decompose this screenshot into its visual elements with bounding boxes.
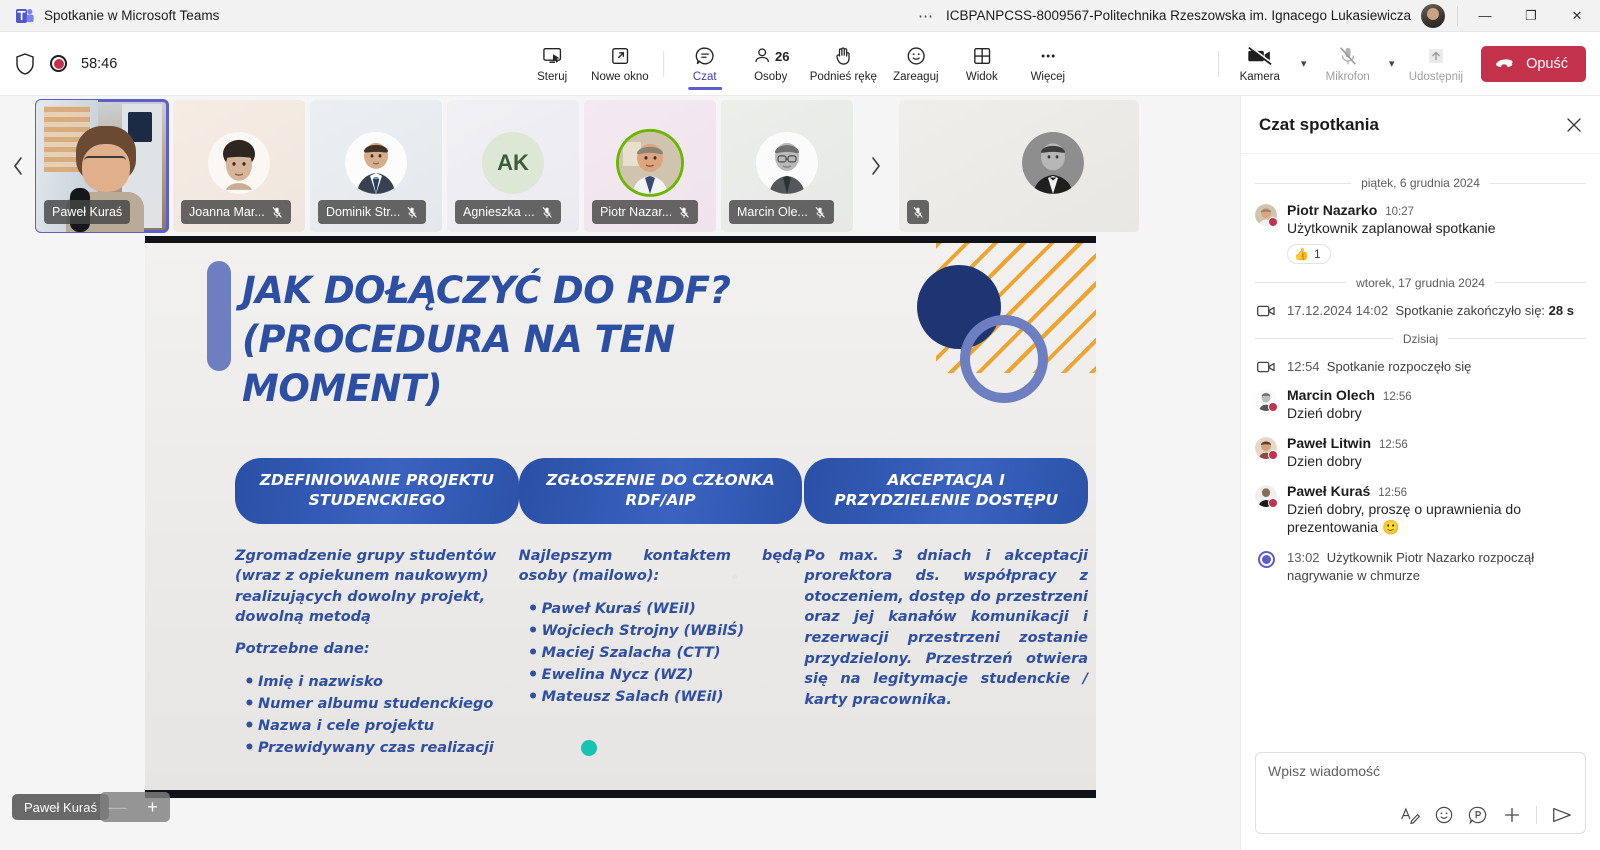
- window-titlebar: Spotkanie w Microsoft Teams ⋯ ICBPANPCSS…: [0, 0, 1600, 32]
- avatar: [1255, 204, 1277, 226]
- close-button[interactable]: ✕: [1554, 0, 1600, 32]
- presenter-name-badge: Paweł Kuraś: [12, 794, 109, 820]
- chat-author: Paweł Litwin: [1287, 435, 1371, 451]
- column-paragraph: Zgromadzenie grupy studentów (wraz z opi…: [235, 546, 519, 628]
- chat-timestamp: 12:56: [1378, 487, 1407, 499]
- chat-message: Paweł Kuraś 12:56 Dzień dobry, proszę o …: [1255, 483, 1586, 537]
- microphone-button[interactable]: Mikrofon: [1315, 32, 1381, 96]
- filmstrip-prev-button[interactable]: [0, 96, 36, 236]
- tile-name-badge: Joanna Mar...: [181, 200, 291, 224]
- avatar: [756, 132, 818, 194]
- participant-tile-piotr[interactable]: Piotr Nazar...: [584, 100, 716, 232]
- format-text-icon[interactable]: [1400, 806, 1420, 824]
- column-bullets: Imię i nazwisko Numer albumu studenckieg…: [243, 671, 519, 759]
- mic-muted-icon: [678, 206, 690, 219]
- decorative-ring: [960, 315, 1048, 403]
- chat-timestamp: 12:56: [1383, 391, 1412, 403]
- column-paragraph: Najlepszym kontaktem będą osoby (mailowo…: [519, 546, 803, 587]
- zoom-in-button[interactable]: +: [135, 798, 170, 816]
- toolbar-item-steruj[interactable]: Steruj: [519, 32, 585, 96]
- tile-name-badge: Dominik Str...: [318, 200, 426, 224]
- column-bullets: Paweł Kuraś (WEiI) Wojciech Strojny (WBi…: [527, 598, 803, 708]
- meeting-timer: 58:46: [81, 56, 117, 72]
- toolbar-actions: Steruj Nowe okno Czat 26 Osoby: [519, 32, 1081, 96]
- column-heading: Zdefiniowanie projektu studenckiego: [235, 458, 519, 524]
- toolbar-label: Czat: [693, 71, 717, 83]
- composer-toolbar: [1268, 797, 1573, 825]
- new-window-icon: [609, 44, 631, 68]
- tile-name-badge: Piotr Nazar...: [592, 200, 698, 224]
- slide-column-2: Zgłoszenie do członka RDF/AIP Najlepszym…: [511, 458, 811, 759]
- tile-name: Marcin Ole...: [737, 205, 808, 219]
- toolbar-item-osoby[interactable]: 26 Osoby: [738, 32, 804, 96]
- titlebar-right: ⋯ ICBPANPCSS-8009567-Politechnika Rzeszo…: [906, 0, 1600, 32]
- tile-name-badge: Paweł Kuraś: [44, 200, 130, 224]
- chat-message-body: Piotr Nazarko 10:27 Użytkownik zaplanowa…: [1287, 202, 1586, 264]
- chat-header: Czat spotkania: [1241, 96, 1600, 154]
- zoom-controls[interactable]: — +: [100, 792, 170, 822]
- participant-tile-pawel-kuras[interactable]: Paweł Kuraś: [36, 100, 168, 232]
- bullet-item: Wojciech Strojny (WBilŚ): [527, 620, 803, 642]
- participant-count: 26: [775, 49, 789, 64]
- emoji-icon[interactable]: [1434, 805, 1454, 825]
- chat-system-value: 28 s: [1549, 303, 1574, 318]
- titlebar-divider: [1457, 6, 1458, 26]
- avatar: [208, 132, 270, 194]
- chat-system-message: 12:54 Spotkanie rozpoczęło się: [1255, 358, 1586, 376]
- avatar: [1022, 132, 1084, 194]
- bullet-item: Przewidywany czas realizacji: [243, 737, 519, 759]
- day-label: piątek, 6 grudnia 2024: [1361, 176, 1480, 190]
- send-icon[interactable]: [1551, 805, 1573, 825]
- chat-text: Dzien dobry: [1287, 452, 1586, 471]
- avatar-initials: AK: [482, 132, 544, 194]
- bullet-item: Mateusz Salach (WEiI): [527, 686, 803, 708]
- share-button[interactable]: Udostępnij: [1403, 32, 1469, 96]
- meeting-toolbar: 58:46 Steruj Nowe okno Czat: [0, 32, 1600, 96]
- toolbar-item-czat[interactable]: Czat: [672, 32, 738, 96]
- reaction-badge[interactable]: 👍 1: [1287, 244, 1331, 264]
- shared-content-stage: Jak dołączyć do RDF? (Procedura na ten m…: [0, 236, 1240, 850]
- toolbar-device-controls: Kamera ▾ Mikrofon ▾ Udostępnij Opuś: [1210, 32, 1600, 96]
- teams-logo-icon: [16, 7, 34, 25]
- slide-column-1: Zdefiniowanie projektu studenckiego Zgro…: [227, 458, 527, 759]
- toolbar-item-nowe-okno[interactable]: Nowe okno: [585, 32, 655, 96]
- presenter-name: Paweł Kuraś: [24, 800, 97, 815]
- close-icon[interactable]: [1566, 117, 1582, 133]
- teams-meeting-window: Spotkanie w Microsoft Teams ⋯ ICBPANPCSS…: [0, 0, 1600, 850]
- tile-name: Agnieszka ...: [463, 205, 535, 219]
- chat-timestamp: 17.12.2024 14:02: [1287, 303, 1388, 318]
- chat-message-head: Paweł Kuraś 12:56: [1287, 483, 1586, 499]
- mic-muted-icon: [541, 206, 553, 219]
- bullet-item: Imię i nazwisko: [243, 671, 519, 693]
- chat-system-label: Spotkanie zakończyło się:: [1395, 303, 1545, 318]
- chat-message-body: Paweł Kuraś 12:56 Dzień dobry, proszę o …: [1287, 483, 1586, 537]
- chat-author: Piotr Nazarko: [1287, 202, 1377, 218]
- chat-message: Piotr Nazarko 10:27 Użytkownik zaplanowa…: [1255, 202, 1586, 264]
- chat-message-head: Piotr Nazarko 10:27: [1287, 202, 1586, 218]
- chat-system-text: 17.12.2024 14:02 Spotkanie zakończyło si…: [1287, 302, 1574, 320]
- more-ellipsis-icon: [1037, 44, 1059, 68]
- avatar: [1255, 437, 1277, 459]
- camera-button[interactable]: Kamera: [1227, 32, 1293, 96]
- hangup-icon: [1495, 57, 1517, 71]
- bullet-item: Ewelina Nycz (WZ): [527, 664, 803, 686]
- microphone-chevron-down-icon[interactable]: ▾: [1381, 32, 1403, 96]
- bullet-item: Maciej Szalacha (CTT): [527, 642, 803, 664]
- tile-name-badge: Agnieszka ...: [455, 200, 561, 224]
- mic-muted-icon: [271, 206, 283, 219]
- chat-icon: [694, 44, 716, 68]
- chat-message-body: Marcin Olech 12:56 Dzień dobry: [1287, 387, 1586, 423]
- chat-text: Użytkownik zaplanował spotkanie: [1287, 219, 1586, 238]
- chat-message-list[interactable]: piątek, 6 grudnia 2024 Piotr Nazarko 10:…: [1241, 154, 1600, 742]
- mic-muted-icon: [912, 206, 924, 219]
- toolbar-item-zareaguj[interactable]: Zareaguj: [883, 32, 949, 96]
- avatar: [1255, 485, 1277, 507]
- toolbar-label: Zareaguj: [893, 71, 938, 83]
- toolbar-item-podnies-reke[interactable]: Podnieś rękę: [804, 32, 883, 96]
- share-up-arrow-icon: [1425, 44, 1447, 68]
- toolbar-divider-2: [1218, 51, 1219, 77]
- chat-timestamp: 10:27: [1385, 206, 1414, 218]
- toolbar-label: Osoby: [754, 71, 787, 83]
- minimize-button[interactable]: —: [1462, 0, 1508, 32]
- tile-name: Paweł Kuraś: [52, 205, 122, 219]
- reactions-icon: [905, 44, 927, 68]
- mic-muted-icon: [814, 206, 826, 219]
- zoom-out-button[interactable]: —: [100, 798, 135, 816]
- column-heading: Akceptacja i przydzielenie dostępu: [804, 458, 1088, 524]
- avatar[interactable]: [1421, 4, 1445, 28]
- chat-timestamp: 12:56: [1379, 439, 1408, 451]
- chat-composer: Wpisz wiadomość: [1241, 742, 1600, 850]
- toolbar-label: Więcej: [1031, 71, 1066, 83]
- toolbar-status-group: 58:46: [0, 52, 117, 76]
- control-screen-icon: [541, 44, 563, 68]
- toolbar-label: Podnieś rękę: [810, 71, 877, 83]
- recording-icon: [1255, 551, 1277, 568]
- microphone-label: Mikrofon: [1326, 71, 1370, 83]
- chat-message-body: Paweł Litwin 12:56 Dzien dobry: [1287, 435, 1586, 471]
- praise-icon[interactable]: [1468, 805, 1488, 825]
- presentation-slide: Jak dołączyć do RDF? (Procedura na ten m…: [145, 243, 1096, 790]
- tile-name: Dominik Str...: [326, 205, 400, 219]
- reaction-count: 1: [1314, 247, 1321, 261]
- chat-timestamp: 13:02: [1287, 550, 1320, 565]
- chat-message-head: Marcin Olech 12:56: [1287, 387, 1586, 403]
- toolbar-label: Steruj: [537, 71, 567, 83]
- avatar: [1255, 389, 1277, 411]
- avatar: [345, 132, 407, 194]
- chat-panel: Czat spotkania piątek, 6 grudnia 2024 Pi…: [1240, 96, 1600, 850]
- chat-title: Czat spotkania: [1259, 115, 1379, 135]
- meeting-video-icon: [1255, 304, 1277, 318]
- chat-author: Marcin Olech: [1287, 387, 1375, 403]
- tile-name: Joanna Mar...: [189, 205, 265, 219]
- camera-chevron-down-icon[interactable]: ▾: [1293, 32, 1315, 96]
- avatar-initials-text: AK: [497, 150, 529, 176]
- maximize-button[interactable]: ❐: [1508, 0, 1554, 32]
- meeting-video-icon: [1255, 360, 1277, 374]
- titlebar-ellipsis-icon[interactable]: ⋯: [906, 7, 946, 25]
- view-grid-icon: [971, 44, 993, 68]
- chat-message: Paweł Litwin 12:56 Dzien dobry: [1255, 435, 1586, 471]
- participant-tile-unnamed[interactable]: [899, 100, 1139, 232]
- titlebar-left: Spotkanie w Microsoft Teams: [0, 7, 219, 25]
- bullet-item: Paweł Kuraś (WEiI): [527, 598, 803, 620]
- toolbar-item-wiecej[interactable]: Więcej: [1015, 32, 1081, 96]
- chat-system-label: Użytkownik Piotr Nazarko rozpoczął nagry…: [1287, 550, 1534, 583]
- chat-system-text: 12:54 Spotkanie rozpoczęło się: [1287, 358, 1471, 376]
- toolbar-item-widok[interactable]: Widok: [949, 32, 1015, 96]
- chat-day-separator: piątek, 6 grudnia 2024: [1255, 176, 1586, 190]
- chat-day-separator: wtorek, 17 grudnia 2024: [1255, 276, 1586, 290]
- day-label: Dzisiaj: [1403, 332, 1438, 346]
- chat-message: Marcin Olech 12:56 Dzień dobry: [1255, 387, 1586, 423]
- column-heading: Zgłoszenie do członka RDF/AIP: [519, 458, 803, 524]
- toolbar-label: Widok: [966, 71, 998, 83]
- thumbs-up-icon: 👍: [1294, 247, 1309, 261]
- slide-title: Jak dołączyć do RDF? (Procedura na ten m…: [242, 267, 802, 413]
- chat-composer-box[interactable]: Wpisz wiadomość: [1255, 752, 1586, 834]
- chat-author: Paweł Kuraś: [1287, 483, 1370, 499]
- column-body: Po max. 3 dniach i akceptacji prorektora…: [804, 546, 1088, 711]
- participant-tile-joanna[interactable]: Joanna Mar...: [173, 100, 305, 232]
- camera-off-icon: [1247, 44, 1273, 68]
- column-body: Najlepszym kontaktem będą osoby (mailowo…: [519, 546, 803, 708]
- meeting-name: ICBPANPCSS-8009567-Politechnika Rzeszows…: [946, 8, 1421, 23]
- column-paragraph: Po max. 3 dniach i akceptacji prorektora…: [804, 546, 1088, 711]
- column-body: Zgromadzenie grupy studentów (wraz z opi…: [235, 546, 519, 759]
- filmstrip-next-button[interactable]: [858, 156, 894, 176]
- decorative-title-bar: [207, 261, 231, 371]
- message-input[interactable]: Wpisz wiadomość: [1268, 763, 1573, 779]
- leave-label: Opuść: [1526, 56, 1568, 72]
- chat-timestamp: 12:54: [1287, 359, 1320, 374]
- record-icon: [50, 55, 67, 72]
- slide-column-3: Akceptacja i przydzielenie dostępu Po ma…: [796, 458, 1096, 759]
- plus-attach-icon[interactable]: [1502, 805, 1522, 825]
- participant-filmstrip: Paweł Kuraś: [0, 96, 1240, 236]
- chat-system-message: 17.12.2024 14:02 Spotkanie zakończyło si…: [1255, 302, 1586, 320]
- raise-hand-icon: [832, 44, 854, 68]
- leave-button[interactable]: Opuść: [1481, 46, 1586, 82]
- participant-tile-agnieszka[interactable]: AK Agnieszka ...: [447, 100, 579, 232]
- bullet-item: Numer albumu studenckiego: [243, 693, 519, 715]
- shield-icon[interactable]: [14, 52, 36, 76]
- chat-system-text: 13:02 Użytkownik Piotr Nazarko rozpoczął…: [1287, 549, 1586, 585]
- tile-name-badge: [907, 200, 929, 224]
- chat-text: Dzień dobry, proszę o uprawnienia do pre…: [1287, 500, 1586, 537]
- day-label: wtorek, 17 grudnia 2024: [1356, 276, 1485, 290]
- toolbar-label: Nowe okno: [591, 71, 649, 83]
- column-paragraph: Potrzebne dane:: [235, 639, 519, 660]
- chat-message-head: Paweł Litwin 12:56: [1287, 435, 1586, 451]
- participant-tile-dominik[interactable]: Dominik Str...: [310, 100, 442, 232]
- bullet-item: Nazwa i cele projektu: [243, 715, 519, 737]
- toolbar-divider: [663, 51, 664, 77]
- app-title: Spotkanie w Microsoft Teams: [44, 8, 219, 23]
- tile-name: Piotr Nazar...: [600, 205, 672, 219]
- screen-share-frame[interactable]: Jak dołączyć do RDF? (Procedura na ten m…: [145, 236, 1096, 798]
- chat-system-message: 13:02 Użytkownik Piotr Nazarko rozpoczął…: [1255, 549, 1586, 585]
- mic-off-icon: [1337, 44, 1359, 68]
- mic-muted-icon: [406, 206, 418, 219]
- slide-columns: Zdefiniowanie projektu studenckiego Zgro…: [145, 458, 1096, 759]
- avatar: [619, 132, 681, 194]
- composer-divider: [1536, 806, 1537, 824]
- camera-label: Kamera: [1240, 71, 1280, 83]
- chat-text: Dzień dobry: [1287, 404, 1586, 423]
- chat-system-label: Spotkanie rozpoczęło się: [1327, 359, 1472, 374]
- share-label: Udostępnij: [1409, 71, 1463, 83]
- chat-day-separator: Dzisiaj: [1255, 332, 1586, 346]
- people-icon: 26: [752, 44, 789, 68]
- decorative-teal-dot: [581, 740, 597, 756]
- participant-tile-marcin[interactable]: Marcin Ole...: [721, 100, 853, 232]
- tile-name-badge: Marcin Ole...: [729, 200, 834, 224]
- filmstrip-tiles: Paweł Kuraś: [36, 100, 1139, 232]
